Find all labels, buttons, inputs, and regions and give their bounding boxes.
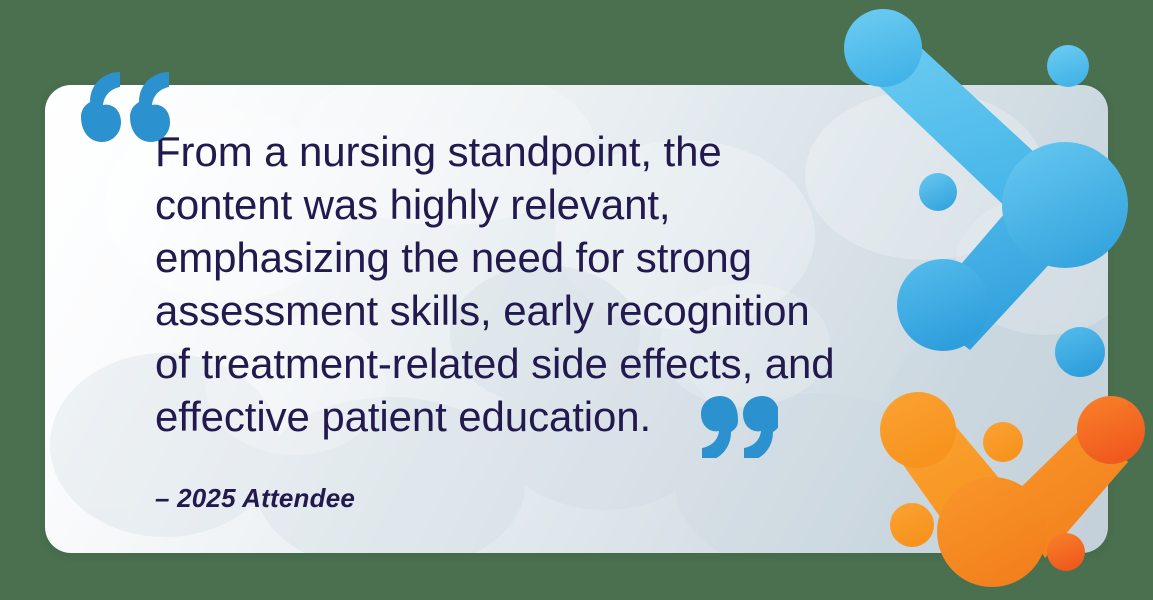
testimonial-card: From a nursing standpoint, the content w… <box>45 85 1108 553</box>
canvas: From a nursing standpoint, the content w… <box>0 0 1153 600</box>
quote-line: of treatment-related side effects, and <box>155 337 955 390</box>
opening-quote-icon <box>76 72 176 160</box>
closing-quote-icon <box>700 396 778 458</box>
quote-line: content was highly relevant, <box>155 178 955 231</box>
quote-line: assessment skills, early recognition <box>155 284 955 337</box>
quote-line: From a nursing standpoint, the <box>155 125 955 178</box>
quote-text-block: From a nursing standpoint, the content w… <box>155 125 955 443</box>
quote-line: emphasizing the need for strong <box>155 231 955 284</box>
quote-line: effective patient education. <box>155 390 955 443</box>
quote-attribution: – 2025 Attendee <box>155 483 355 514</box>
